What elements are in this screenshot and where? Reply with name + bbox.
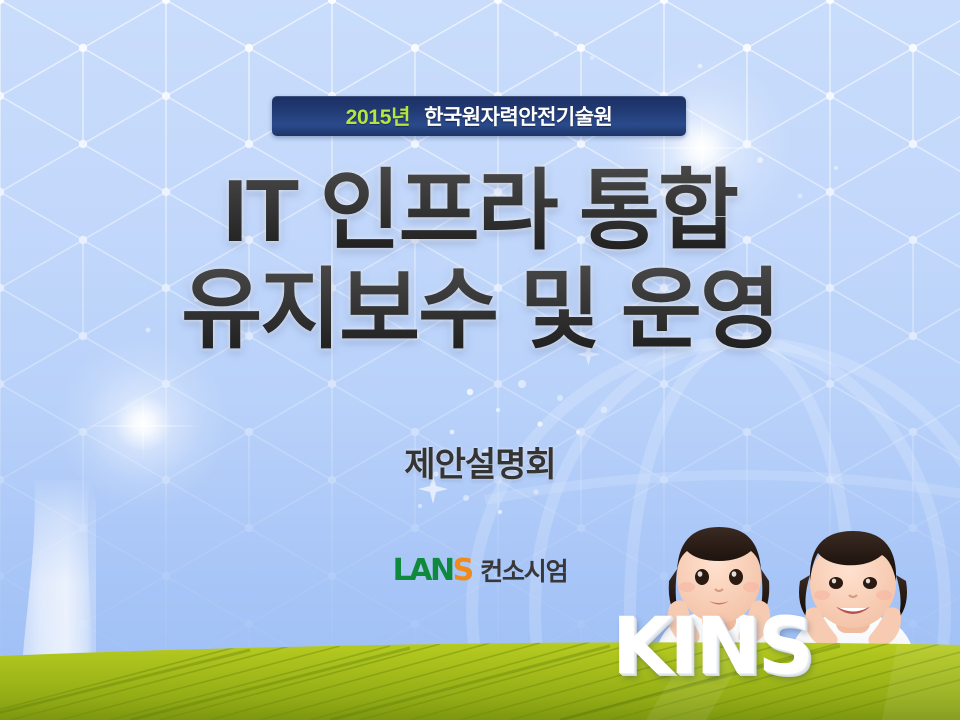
lans-logo-mark: LANS xyxy=(393,553,474,588)
logo-mark-accent: S xyxy=(453,553,474,588)
lens-flare-glow xyxy=(612,58,792,238)
page-title: IT 인프라 통합 유지보수 및 운영 xyxy=(0,162,960,359)
consortium-logo: LANS 컨소시엄 xyxy=(0,552,960,588)
green-grass-field xyxy=(0,640,960,720)
lens-flare-glow xyxy=(58,338,228,508)
title-line-2: 유지보수 및 운영 xyxy=(0,261,960,360)
logo-word: 컨소시엄 xyxy=(480,552,567,588)
presentation-title-slide: KINS 2015년 한국원자력안전기술원 IT 인프라 통합 유지보수 및 운… xyxy=(0,0,960,720)
lens-flare-rays-icon xyxy=(83,393,203,459)
banner-organization: 한국원자력안전기술원 xyxy=(424,101,612,131)
logo-mark-primary: LAN xyxy=(393,553,453,588)
banner-year: 2015년 xyxy=(346,101,411,131)
page-subtitle: 제안설명회 xyxy=(0,437,960,486)
event-banner: 2015년 한국원자력안전기술원 xyxy=(272,96,686,136)
title-line-1: IT 인프라 통합 xyxy=(0,162,960,261)
